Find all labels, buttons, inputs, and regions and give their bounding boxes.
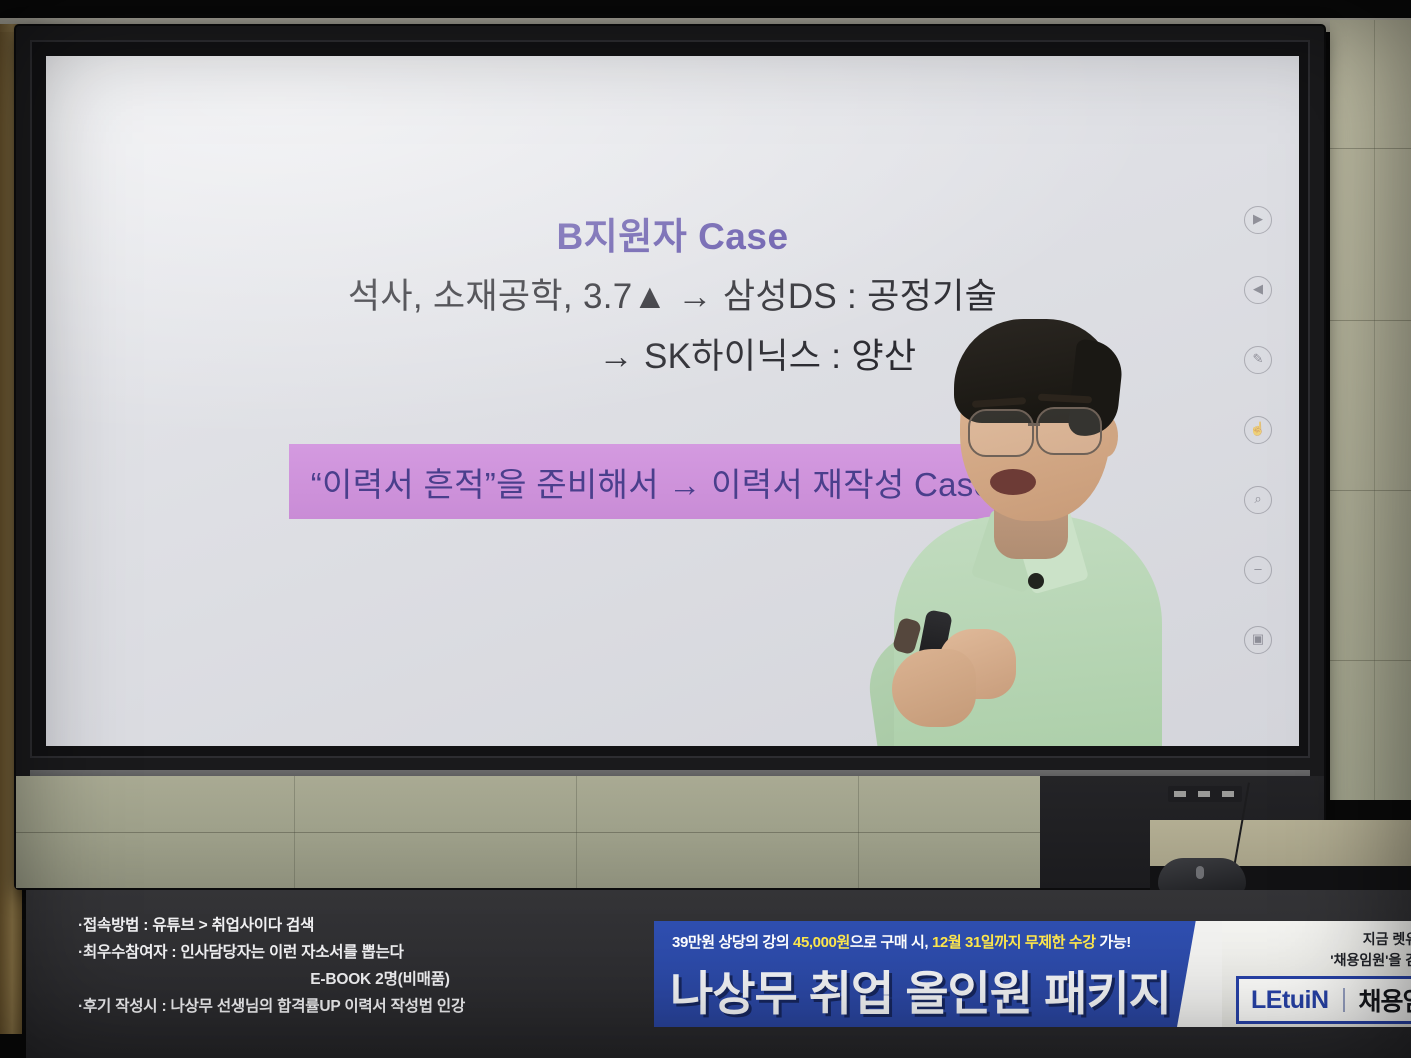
course-info-list: ·접속방법 : 유튜브 > 취업사이다 검색 ·최우수참여자 : 인사담당자는 … xyxy=(78,912,638,1020)
brand-logo-separator xyxy=(1343,988,1345,1012)
brand-logo-korean: 채용임원 xyxy=(1359,982,1411,1018)
minus-icon[interactable]: – xyxy=(1244,556,1272,584)
slide-tool-strip: ▶ ◀ ✎ ☝ ⌕ – ▣ xyxy=(1241,206,1275,654)
play-icon[interactable]: ▶ xyxy=(1244,206,1272,234)
promo-subline-p2: 으로 구매 시, xyxy=(850,934,932,951)
brand-logo[interactable]: LEtuiN 채용임원 xyxy=(1236,976,1411,1024)
presenter-mouth xyxy=(990,469,1036,495)
slide-title: B지원자 Case xyxy=(46,206,1299,260)
promo-banner[interactable]: 39만원 상당의 강의 45,000원으로 구매 시, 12월 31일까지 무제… xyxy=(654,921,1224,1027)
promo-deadline: 12월 31일까지 무제한 수강 xyxy=(932,934,1096,951)
presenter xyxy=(876,311,1176,746)
presenter-hand-left xyxy=(892,649,976,727)
course-info-line-2: ·최우수참여자 : 인사담당자는 이런 자소서를 뽑는다 xyxy=(78,939,638,966)
screenshot-root: B지원자 Case 석사, 소재공학, 3.7▲ → 삼성DS : 공정기술 →… xyxy=(0,0,1411,1058)
brand-logo-text: LEtuiN xyxy=(1239,986,1329,1015)
magnifier-icon[interactable]: ⌕ xyxy=(1244,486,1272,514)
brand-note-line-2: '채용임원'을 검색 xyxy=(1232,950,1411,971)
bottom-info-band: ·접속방법 : 유튜브 > 취업사이다 검색 ·최우수참여자 : 인사담당자는 … xyxy=(26,890,1411,1058)
glasses-icon xyxy=(968,409,1034,457)
laser-pointer-icon[interactable]: ☝ xyxy=(1244,416,1272,444)
pen-icon[interactable]: ✎ xyxy=(1244,346,1272,374)
display-bezel: B지원자 Case 석사, 소재공학, 3.7▲ → 삼성DS : 공정기술 →… xyxy=(16,26,1324,888)
presenter-glasses-right xyxy=(1036,407,1102,455)
brand-note: 지금 렛유인 '채용임원'을 검색 xyxy=(1232,929,1411,971)
course-info-line-4: ·후기 작성시 : 나상무 선생님의 합격률UP 이력서 작성법 인강 xyxy=(78,993,638,1020)
pc-port-panel xyxy=(1168,786,1242,802)
promo-subline-p1: 39만원 상당의 강의 xyxy=(672,934,793,951)
course-info-line-1: ·접속방법 : 유튜브 > 취업사이다 검색 xyxy=(78,912,638,939)
promo-subline-p3: 가능! xyxy=(1096,934,1131,951)
speaker-icon[interactable]: ◀ xyxy=(1244,276,1272,304)
presentation-slide: B지원자 Case 석사, 소재공학, 3.7▲ → 삼성DS : 공정기술 →… xyxy=(46,56,1299,746)
mouse-scroll-wheel[interactable] xyxy=(1196,866,1204,879)
wall-right-tiles xyxy=(1330,20,1411,800)
promo-headline: 나상무 취업 올인원 패키지 xyxy=(670,955,1214,1024)
promo-price: 45,000원 xyxy=(793,934,850,951)
presenter-glasses-bridge xyxy=(1028,423,1040,426)
brand-note-line-1: 지금 렛유인 xyxy=(1232,929,1411,950)
course-info-line-3: E-BOOK 2명(비매품) xyxy=(78,966,638,993)
brand-block[interactable]: 지금 렛유인 '채용임원'을 검색 LEtuiN 채용임원 xyxy=(1222,921,1411,1027)
presenter-lapel-mic xyxy=(1028,573,1044,589)
screen-icon[interactable]: ▣ xyxy=(1244,626,1272,654)
promo-subline: 39만원 상당의 강의 45,000원으로 구매 시, 12월 31일까지 무제… xyxy=(672,931,1210,952)
